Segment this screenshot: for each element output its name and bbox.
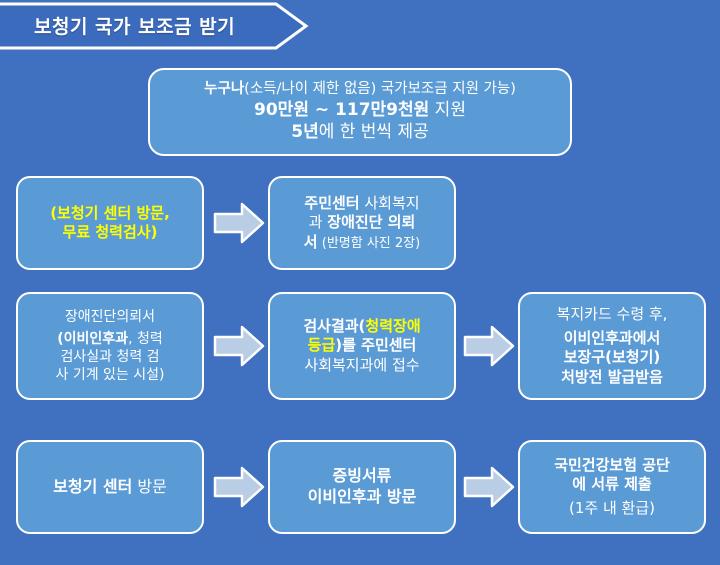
step-row3-right-text: 국민건강보험 공단 에 서류 제출 (1주 내 환급) xyxy=(528,456,696,519)
row3-left-bold: 보청기 센터 xyxy=(53,477,132,496)
step-row1-left-text: (보청기 센터 방문, 무료 청력검사) xyxy=(26,204,194,243)
row3-left-rest: 방문 xyxy=(132,477,167,496)
step-row2-left-line1: 장애진단의뢰서 xyxy=(26,308,194,326)
step-box-row2-left: 장애진단의뢰서 (이비인후과, 청력 검사실과 청력 검 사 기계 있는 시설) xyxy=(16,292,204,400)
step-row3-left-line1: 보청기 센터 방문 xyxy=(26,477,194,498)
step-box-row3-left: 보청기 센터 방문 xyxy=(16,440,204,534)
subsidy-info-box: 누구나(소득/나이 제한 없음) 국가보조금 지원 가능) 90만원 ~ 117… xyxy=(148,68,572,156)
arrow-right-icon-row2-left xyxy=(212,323,266,369)
eligibility-rest-part: (소득/나이 제한 없음) 국가보조금 지원 가능) xyxy=(244,81,516,97)
subsidy-eligibility-line: 누구나(소득/나이 제한 없음) 국가보조금 지원 가능) xyxy=(158,80,562,99)
step-row2-middle-line3: 사회복지과에 접수 xyxy=(278,356,446,376)
step-box-row3-middle: 증빙서류 이비인후과 방문 xyxy=(268,440,456,534)
step-row1-middle-line2: 과 장애진단 의뢰 xyxy=(278,213,446,233)
arrow-right-icon-row3-left xyxy=(212,464,266,510)
step-row1-middle-text: 주민센터 사회복지 과 장애진단 의뢰 서 (반명함 사진 2장) xyxy=(278,194,446,253)
step-row1-left-line1: (보청기 센터 방문, xyxy=(26,204,194,224)
step-row2-middle-line1: 검사결과(청력장애 xyxy=(278,317,446,337)
row2-mid-bold1: 검사결과( xyxy=(303,317,365,335)
step-row3-right-line3: (1주 내 환급) xyxy=(528,499,696,519)
subsidy-frequency-line: 5년에 한 번씩 제공 xyxy=(158,121,562,143)
subsidy-amount-line: 90만원 ~ 117만9천원 지원 xyxy=(158,99,562,121)
row1-mid-rest2: 과 xyxy=(309,213,328,231)
step-row1-left-line2: 무료 청력검사) xyxy=(26,223,194,243)
step-row2-right-text: 복지카드 수령 후, 이비인후과에서 보장구(보청기) 처방전 발급받음 xyxy=(528,305,696,387)
arrow-right-icon-row2-right xyxy=(462,323,516,369)
header-title-container: 보청기 국가 보조금 받기 xyxy=(0,4,310,46)
step-row2-right-line1: 복지카드 수령 후, xyxy=(528,305,696,325)
step-row2-left-line3: 검사실과 청력 검 xyxy=(26,348,194,366)
frequency-bold-part: 5년 xyxy=(291,122,318,142)
step-row1-middle-line1: 주민센터 사회복지 xyxy=(278,194,446,214)
step-row2-right-line3: 보장구(보청기) xyxy=(528,348,696,368)
step-row2-middle-text: 검사결과(청력장애 등급)를 주민센터 사회복지과에 접수 xyxy=(278,317,446,376)
step-row3-middle-line1: 증빙서류 xyxy=(278,466,446,487)
row2-left-rest: , 청력 xyxy=(128,331,163,347)
step-row1-middle-line3: 서 (반명함 사진 2장) xyxy=(278,233,446,253)
row2-mid-yellow1: 청력장애 xyxy=(365,317,420,335)
subsidy-info-text: 누구나(소득/나이 제한 없음) 국가보조금 지원 가능) 90만원 ~ 117… xyxy=(158,80,562,143)
row1-mid-bold2: 장애진단 의뢰 xyxy=(327,213,415,231)
step-box-row2-middle: 검사결과(청력장애 등급)를 주민센터 사회복지과에 접수 xyxy=(268,292,456,400)
row1-mid-rest1: 사회복지 xyxy=(360,194,420,212)
step-box-row1-left: (보청기 센터 방문, 무료 청력검사) xyxy=(16,176,204,270)
step-row3-middle-text: 증빙서류 이비인후과 방문 xyxy=(278,466,446,508)
row2-mid-bold2: )를 주민센터 xyxy=(335,336,416,354)
subsidy-amount-bold: 90만원 ~ 117만9천원 xyxy=(254,100,429,120)
step-row3-middle-line2: 이비인후과 방문 xyxy=(278,487,446,508)
row1-mid-bold3: 서 xyxy=(304,233,318,251)
frequency-rest-part: 에 한 번씩 제공 xyxy=(319,122,429,142)
subsidy-amount-suffix: 지원 xyxy=(429,100,466,120)
row2-mid-yellow2: 등급 xyxy=(308,336,336,354)
step-box-row3-right: 국민건강보험 공단 에 서류 제출 (1주 내 환급) xyxy=(518,440,706,534)
arrow-right-icon-row3-right xyxy=(462,464,516,510)
eligibility-bold-part: 누구나 xyxy=(204,81,244,97)
row2-left-bold: (이비인후과 xyxy=(57,331,128,347)
step-row2-left-line2: (이비인후과, 청력 xyxy=(26,330,194,348)
step-row3-left-text: 보청기 센터 방문 xyxy=(26,477,194,498)
page-title: 보청기 국가 보조금 받기 xyxy=(34,12,235,39)
step-box-row1-middle: 주민센터 사회복지 과 장애진단 의뢰 서 (반명함 사진 2장) xyxy=(268,176,456,270)
row1-mid-rest3: (반명함 사진 2장) xyxy=(318,236,421,251)
step-row2-right-line4: 처방전 발급받음 xyxy=(528,368,696,388)
step-box-row2-right: 복지카드 수령 후, 이비인후과에서 보장구(보청기) 처방전 발급받음 xyxy=(518,292,706,400)
arrow-right-icon-row1 xyxy=(212,200,266,246)
step-row2-middle-line2: 등급)를 주민센터 xyxy=(278,336,446,356)
row1-mid-bold1: 주민센터 xyxy=(304,194,359,212)
step-row3-right-line1: 국민건강보험 공단 xyxy=(528,456,696,476)
step-row2-right-line2: 이비인후과에서 xyxy=(528,329,696,349)
step-row3-right-line2: 에 서류 제출 xyxy=(528,475,696,495)
step-row2-left-text: 장애진단의뢰서 (이비인후과, 청력 검사실과 청력 검 사 기계 있는 시설) xyxy=(26,308,194,385)
step-row2-left-line4: 사 기계 있는 시설) xyxy=(26,366,194,384)
